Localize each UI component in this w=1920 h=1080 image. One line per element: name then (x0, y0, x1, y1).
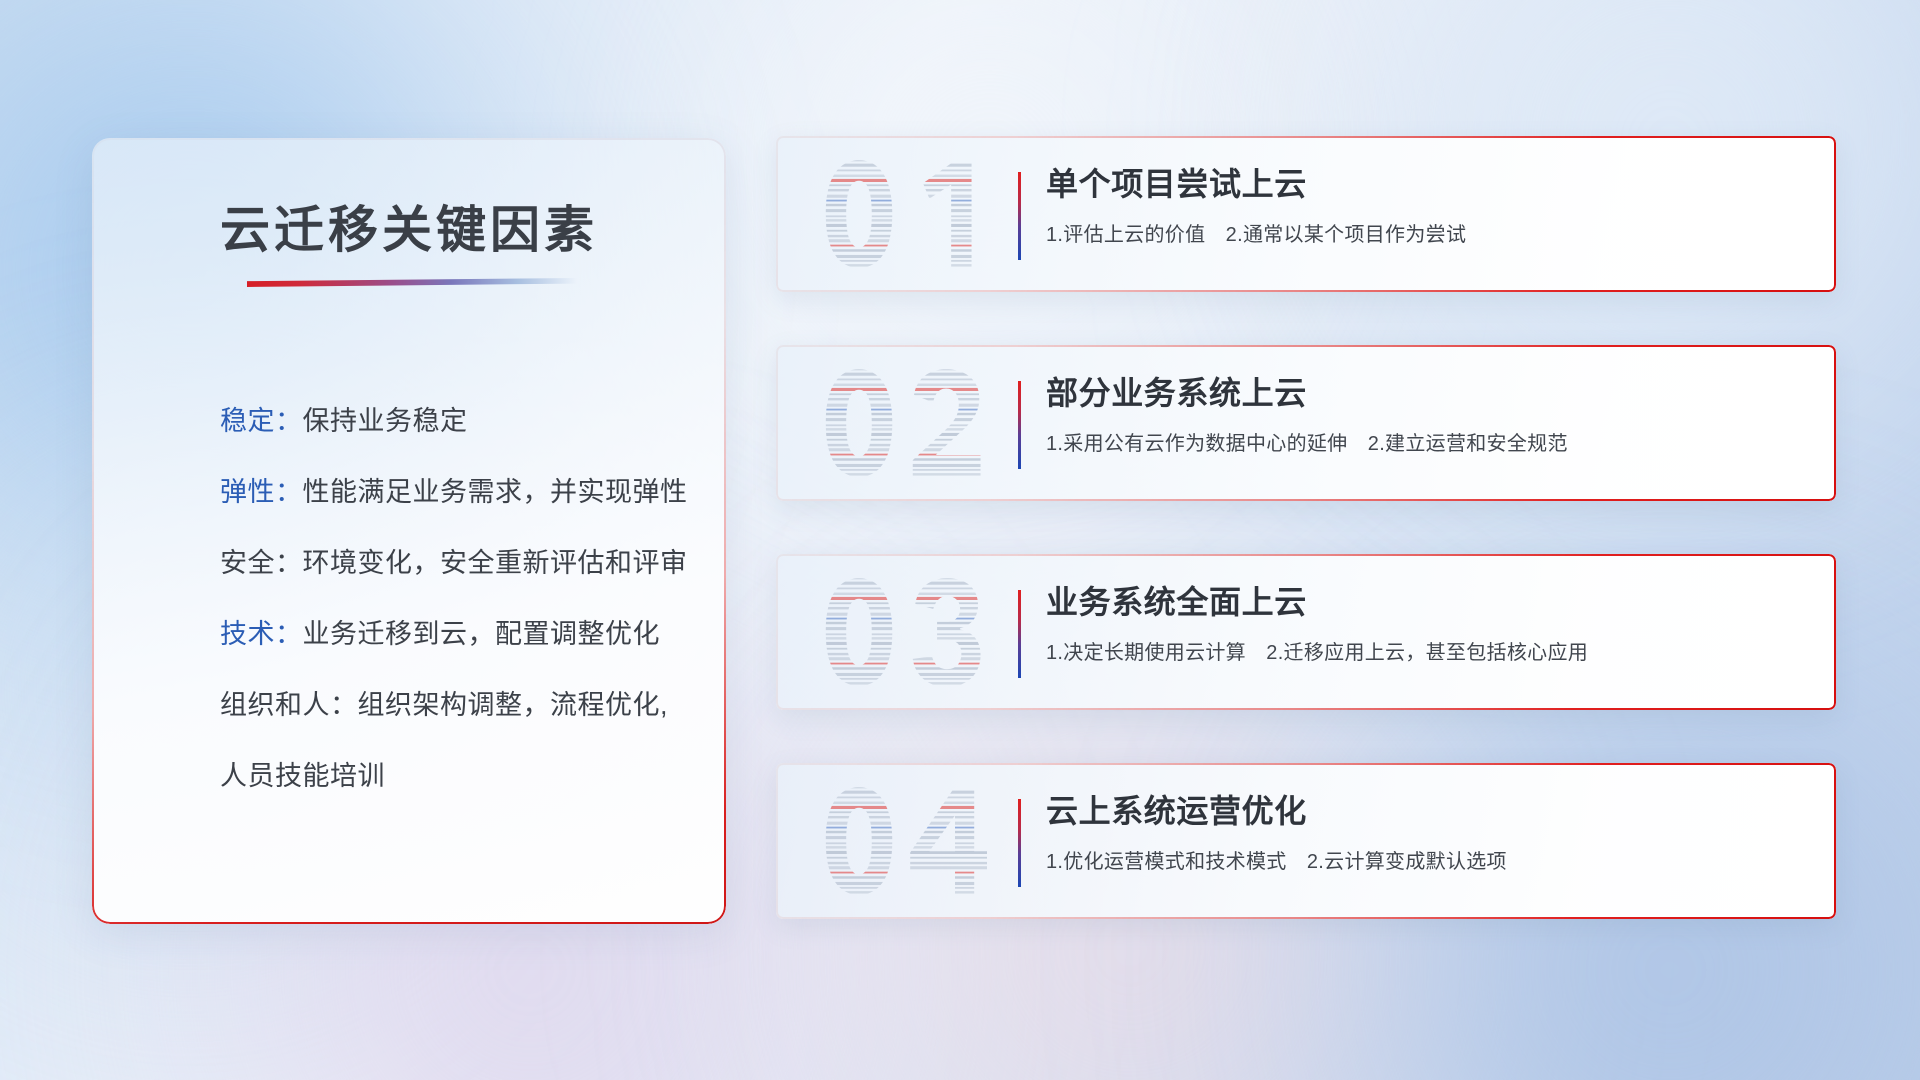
key-factor-text: 环境变化，安全重新评估和评审 (303, 548, 688, 578)
key-factor-row: 人员技能培训 (220, 763, 686, 790)
stage-card-body: 业务系统全面上云1.决定长期使用云计算 2.迁移应用上云，甚至包括核心应用 (1046, 582, 1810, 665)
cloud-migration-stage-cards: 单个项目尝试上云1.评估上云的价值 2.通常以某个项目作为尝试部分业务系统上云1… (776, 136, 1836, 919)
stage-divider-accent (1018, 172, 1021, 260)
key-factors-panel: 云迁移关键因素 稳定：保持业务稳定弹性：性能满足业务需求，并实现弹性安全：环境变… (92, 138, 726, 924)
key-factor-row: 稳定：保持业务稳定 (220, 408, 686, 435)
key-factor-row: 技术：业务迁移到云，配置调整优化 (220, 621, 686, 648)
stage-card-title: 单个项目尝试上云 (1046, 164, 1810, 204)
key-factor-text: 业务迁移到云，配置调整优化 (303, 619, 661, 649)
stage-card[interactable]: 单个项目尝试上云1.评估上云的价值 2.通常以某个项目作为尝试 (776, 136, 1836, 292)
stage-card-title: 业务系统全面上云 (1046, 582, 1810, 622)
key-factor-text: 组织架构调整，流程优化, (358, 690, 669, 720)
stage-card-title: 部分业务系统上云 (1046, 373, 1810, 413)
stage-divider-accent (1018, 381, 1021, 469)
stage-card-body: 部分业务系统上云1.采用公有云作为数据中心的延伸 2.建立运营和安全规范 (1046, 373, 1810, 456)
slide-stage: 云迁移关键因素 稳定：保持业务稳定弹性：性能满足业务需求，并实现弹性安全：环境变… (0, 0, 1920, 1080)
key-factor-label: 安全： (220, 548, 303, 578)
stage-card[interactable]: 业务系统全面上云1.决定长期使用云计算 2.迁移应用上云，甚至包括核心应用 (776, 554, 1836, 710)
key-factor-text: 性能满足业务需求，并实现弹性 (303, 477, 688, 507)
stage-number-watermark (812, 359, 1002, 487)
key-factor-label: 稳定： (220, 406, 303, 436)
title-underline-accent (247, 278, 577, 287)
key-factor-label: 组织和人： (220, 690, 358, 720)
stage-divider-accent (1018, 799, 1021, 887)
stage-card-description: 1.评估上云的价值 2.通常以某个项目作为尝试 (1046, 218, 1810, 247)
stage-card[interactable]: 部分业务系统上云1.采用公有云作为数据中心的延伸 2.建立运营和安全规范 (776, 345, 1836, 501)
stage-card-description: 1.决定长期使用云计算 2.迁移应用上云，甚至包括核心应用 (1046, 636, 1810, 665)
page-title: 云迁移关键因素 (92, 190, 726, 262)
key-factor-row: 组织和人：组织架构调整，流程优化, (220, 692, 686, 719)
stage-card-description: 1.优化运营模式和技术模式 2.云计算变成默认选项 (1046, 845, 1810, 874)
stage-card[interactable]: 云上系统运营优化1.优化运营模式和技术模式 2.云计算变成默认选项 (776, 763, 1836, 919)
key-factor-row: 弹性：性能满足业务需求，并实现弹性 (220, 479, 686, 506)
key-factor-label: 技术： (220, 619, 303, 649)
stage-card-body: 云上系统运营优化1.优化运营模式和技术模式 2.云计算变成默认选项 (1046, 791, 1810, 874)
stage-number-watermark (812, 777, 1002, 905)
key-factor-row: 安全：环境变化，安全重新评估和评审 (220, 550, 686, 577)
stage-card-title: 云上系统运营优化 (1046, 791, 1810, 831)
key-factors-list: 稳定：保持业务稳定弹性：性能满足业务需求，并实现弹性安全：环境变化，安全重新评估… (220, 408, 686, 790)
stage-card-body: 单个项目尝试上云1.评估上云的价值 2.通常以某个项目作为尝试 (1046, 164, 1810, 247)
stage-divider-accent (1018, 590, 1021, 678)
stage-card-description: 1.采用公有云作为数据中心的延伸 2.建立运营和安全规范 (1046, 427, 1810, 456)
key-factor-text: 保持业务稳定 (303, 406, 468, 436)
key-factor-label: 弹性： (220, 477, 303, 507)
key-factor-text: 人员技能培训 (220, 761, 385, 791)
stage-number-watermark (812, 150, 1002, 278)
stage-number-watermark (812, 568, 1002, 696)
